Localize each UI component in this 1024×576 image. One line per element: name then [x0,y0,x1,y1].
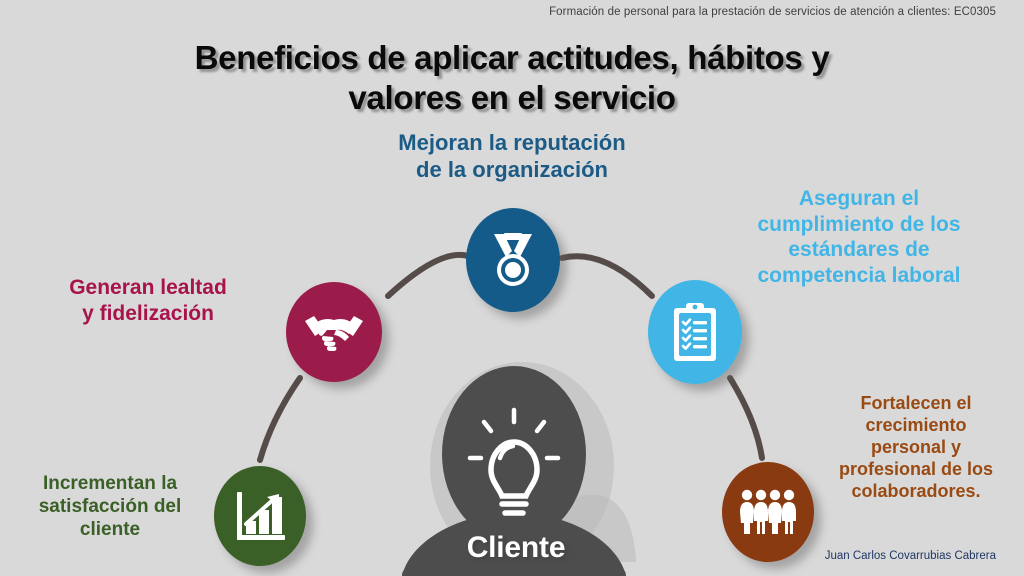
slide-canvas: Formación de personal para la prestación… [0,0,1024,576]
node-reputacion[interactable] [466,208,560,312]
medal-icon [487,230,539,290]
caption-fortalecen-line-3: personal y [816,437,1016,459]
caption-reputacion-line-2: de la organización [332,157,692,184]
caption-reputacion-line-1: Mejoran la reputación [332,130,692,157]
center-client-label: Cliente [396,531,636,565]
node-estandares[interactable] [648,280,742,384]
caption-fortalecen-line-4: profesional de los [816,459,1016,481]
connector-reputacion-estandares [562,256,652,296]
caption-fortalecen-line-5: colaboradores. [816,481,1016,503]
caption-estandares-line-3: estándares de [700,237,1018,263]
caption-lealtad-line-2: y fidelización [30,301,266,327]
caption-estandares: Aseguran el cumplimiento de los estándar… [700,186,1018,288]
people-group-icon [739,488,797,536]
node-fortalecen[interactable] [722,462,814,562]
connector-lealtad-reputacion [388,255,468,296]
caption-estandares-line-2: cumplimiento de los [700,212,1018,238]
caption-estandares-line-4: competencia laboral [700,263,1018,289]
handshake-icon [303,310,365,354]
node-lealtad[interactable] [286,282,382,382]
caption-fortalecen-line-1: Fortalecen el [816,393,1016,415]
caption-lealtad: Generan lealtad y fidelización [30,275,266,326]
caption-fortalecen: Fortalecen el crecimiento personal y pro… [816,393,1016,503]
caption-satisfaccion-line-2: satisfacción del [10,495,210,518]
node-satisfaccion[interactable] [214,466,306,566]
connector-estandares-fortalecen [730,378,762,458]
caption-satisfaccion-line-1: Incrementan la [10,472,210,495]
caption-estandares-line-1: Aseguran el [700,186,1018,212]
caption-satisfaccion: Incrementan la satisfacción del cliente [10,472,210,542]
connector-lealtad-satisfaccion [260,378,300,460]
caption-lealtad-line-1: Generan lealtad [30,275,266,301]
author-credit: Juan Carlos Covarrubias Cabrera [825,550,996,562]
clipboard-checklist-icon [670,301,720,363]
caption-fortalecen-line-2: crecimiento [816,415,1016,437]
growth-chart-icon [233,489,287,543]
caption-satisfaccion-line-3: cliente [10,518,210,541]
caption-reputacion: Mejoran la reputación de la organización [332,130,692,184]
